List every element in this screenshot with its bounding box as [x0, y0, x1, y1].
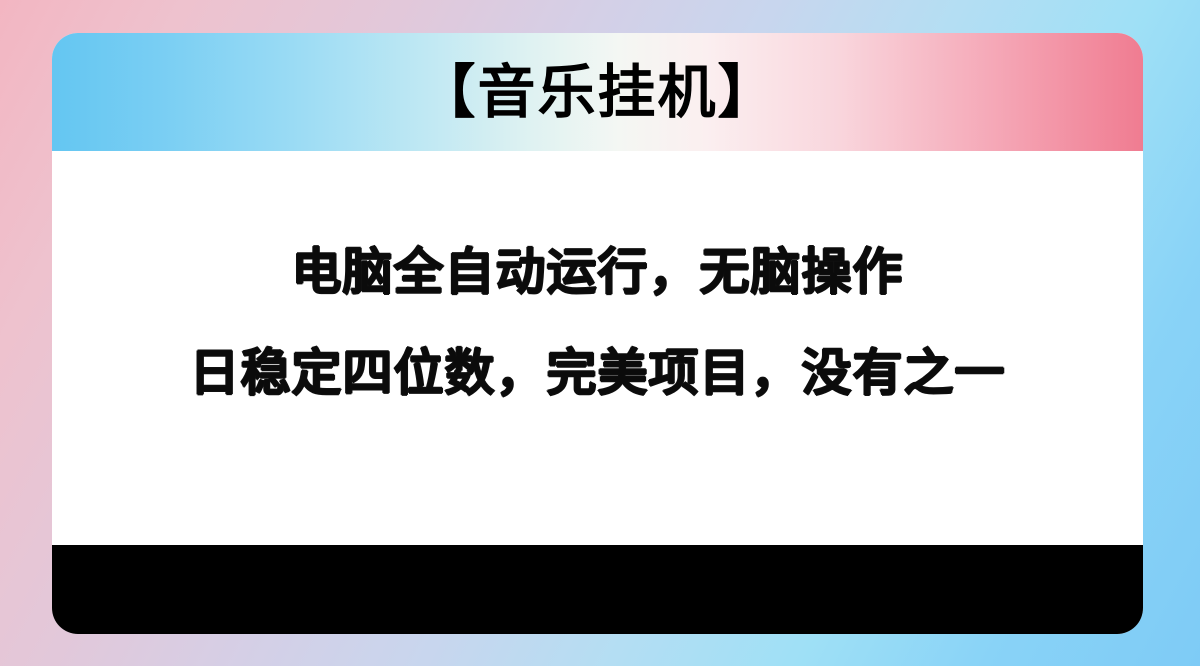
- card-header-banner: 【音乐挂机】: [52, 33, 1143, 151]
- card-body: 电脑全自动运行，无脑操作 日稳定四位数，完美项目，没有之一: [52, 151, 1143, 545]
- poster-canvas: 【音乐挂机】 电脑全自动运行，无脑操作 日稳定四位数，完美项目，没有之一: [0, 0, 1200, 666]
- body-line-1: 电脑全自动运行，无脑操作: [292, 244, 904, 302]
- content-card: 【音乐挂机】 电脑全自动运行，无脑操作 日稳定四位数，完美项目，没有之一: [52, 33, 1143, 634]
- card-footer-bar: [52, 545, 1143, 634]
- body-line-2: 日稳定四位数，完美项目，没有之一: [190, 345, 1006, 403]
- page-title: 【音乐挂机】: [417, 63, 777, 121]
